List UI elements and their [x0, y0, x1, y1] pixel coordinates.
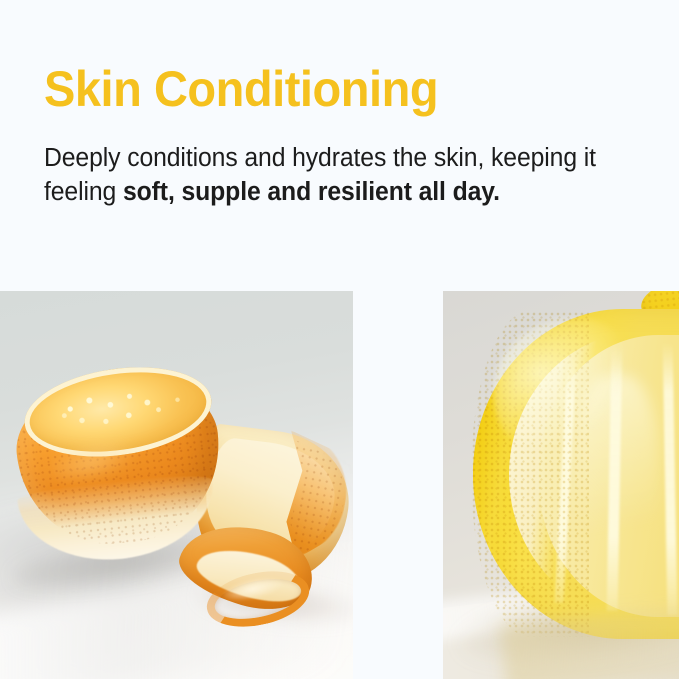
- image-strip: [0, 291, 679, 679]
- page-title: Skin Conditioning: [44, 63, 438, 115]
- product-benefit-card: Skin Conditioning Deeply conditions and …: [0, 0, 679, 679]
- orange-photo: [0, 291, 353, 679]
- description-bold-text: soft, supple and resilient all day.: [123, 178, 500, 206]
- lemon-photo: [443, 291, 679, 679]
- text-panel: Skin Conditioning Deeply conditions and …: [0, 0, 679, 291]
- image-panel-lemon: [443, 291, 679, 679]
- image-panel-orange: [0, 291, 353, 679]
- benefit-description: Deeply conditions and hydrates the skin,…: [44, 141, 626, 209]
